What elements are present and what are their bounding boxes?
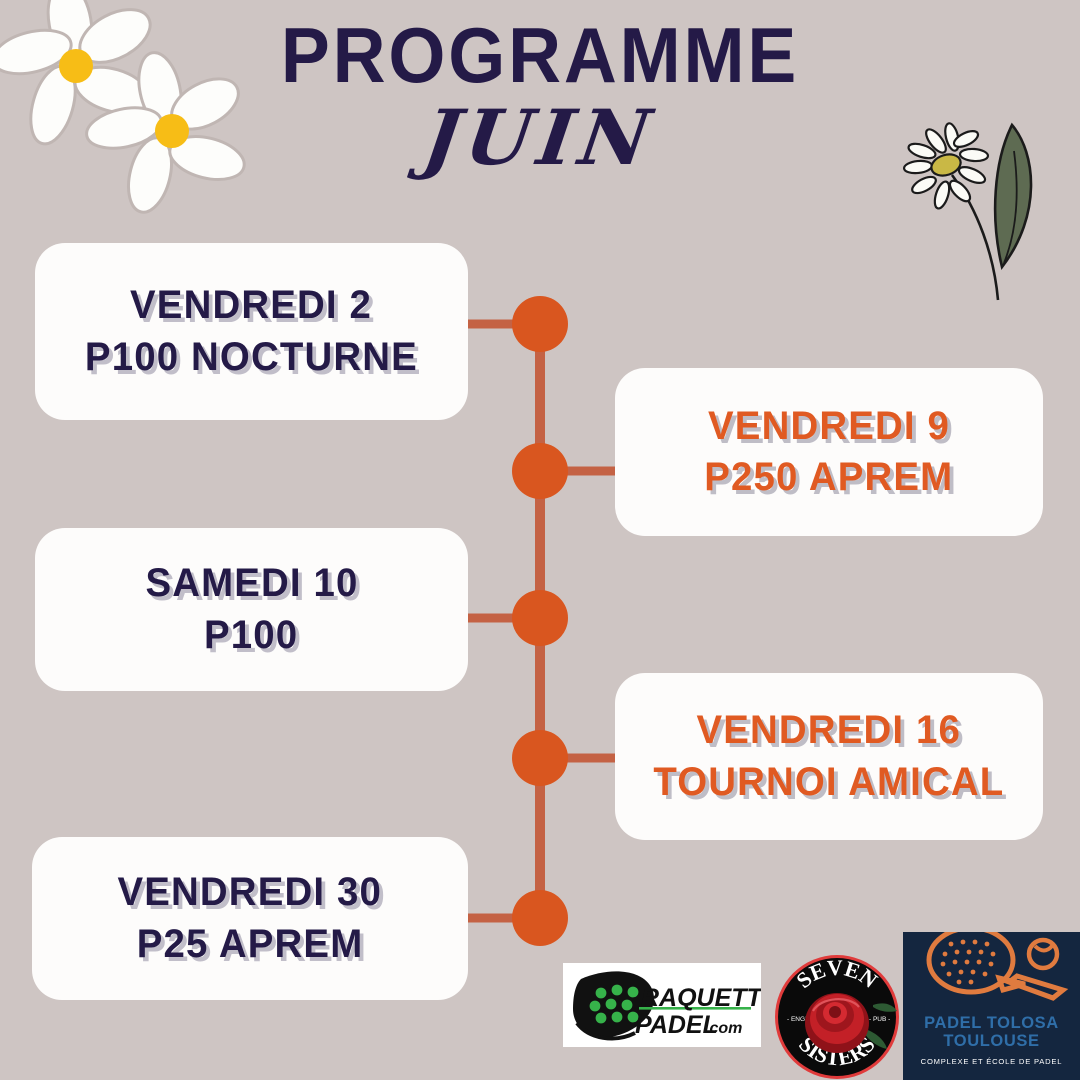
event-title: VENDREDI 2 <box>131 280 373 331</box>
event-card-vendredi-30[interactable]: VENDREDI 30 P25 APREM <box>32 837 468 1000</box>
tolosa-name: PADEL TOLOSA TOULOUSE <box>924 1014 1059 1051</box>
event-detail: P250 APREM <box>704 452 953 503</box>
seven-sisters-logo[interactable]: SEVEN SISTERS - ENGLISH - - PUB - <box>773 953 901 1080</box>
event-card-vendredi-16[interactable]: VENDREDI 16 TOURNOI AMICAL <box>615 673 1043 840</box>
event-card-samedi-10[interactable]: SAMEDI 10 P100 <box>35 528 468 691</box>
timeline-node-1[interactable] <box>512 296 568 352</box>
event-title: VENDREDI 16 <box>697 705 961 756</box>
timeline-node-5[interactable] <box>512 890 568 946</box>
tolosa-line1: PADEL TOLOSA <box>924 1014 1059 1032</box>
padel-racket-icon <box>903 932 1080 1012</box>
event-detail: P100 NOCTURNE <box>85 332 418 383</box>
tolosa-line2: TOULOUSE <box>924 1032 1059 1050</box>
timeline-node-3[interactable] <box>512 590 568 646</box>
event-detail: TOURNOI AMICAL <box>653 757 1004 808</box>
event-detail: P25 APREM <box>137 919 364 970</box>
raquette-padel-logo[interactable]: RAQUETTE PADEL .com <box>563 963 761 1047</box>
timeline-node-2[interactable] <box>512 443 568 499</box>
raquette-word1: RAQUETTE <box>641 984 761 1012</box>
event-card-vendredi-2[interactable]: VENDREDI 2 P100 NOCTURNE <box>35 243 468 420</box>
poster-heading: PROGRAMME JUIN <box>0 16 1080 176</box>
programme-poster: PROGRAMME JUIN VENDREDI 2 P100 NOCTURNE … <box>0 0 1080 1080</box>
event-detail: P100 <box>204 610 298 661</box>
event-title: VENDREDI 30 <box>118 867 382 918</box>
timeline-node-4[interactable] <box>512 730 568 786</box>
event-card-vendredi-9[interactable]: VENDREDI 9 P250 APREM <box>615 368 1043 536</box>
month-title: JUIN <box>0 100 1080 176</box>
seven-sisters-right-text: - PUB - <box>869 1016 890 1023</box>
event-title: SAMEDI 10 <box>145 558 358 609</box>
event-title: VENDREDI 9 <box>708 401 950 452</box>
raquette-suffix: .com <box>705 1020 742 1037</box>
tolosa-tagline: COMPLEXE ET ÉCOLE DE PADEL <box>921 1057 1063 1066</box>
padel-tolosa-logo[interactable]: PADEL TOLOSA TOULOUSE COMPLEXE ET ÉCOLE … <box>903 932 1080 1080</box>
page-title: PROGRAMME <box>32 16 1047 94</box>
